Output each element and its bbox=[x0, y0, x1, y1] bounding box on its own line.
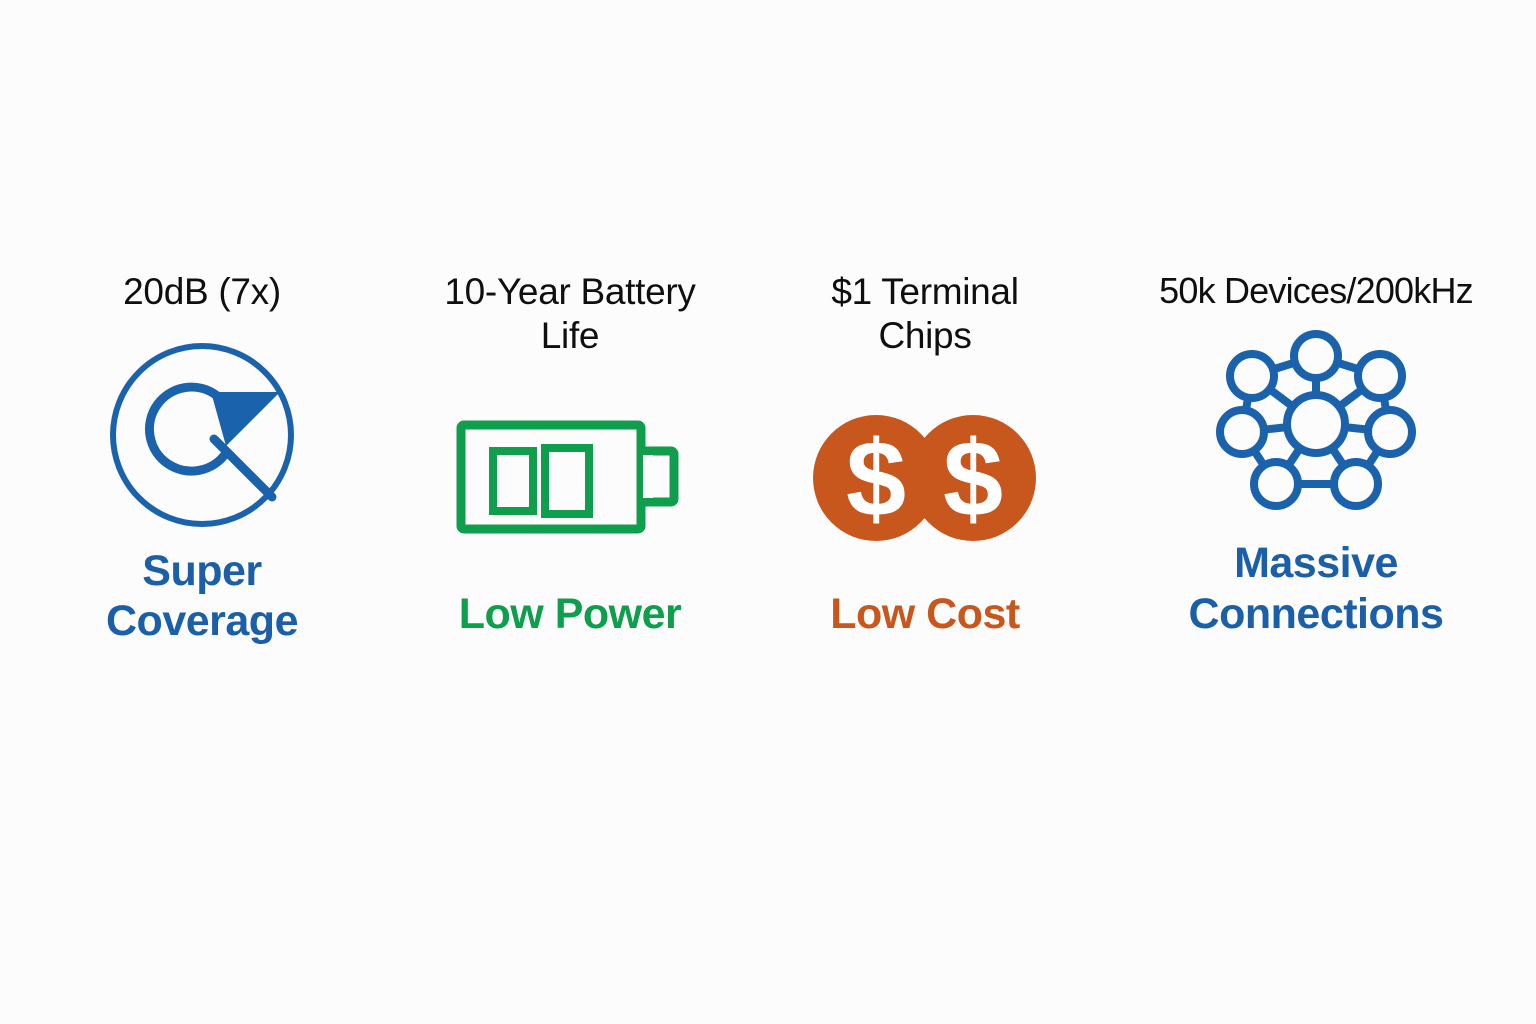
network-nodes-icon bbox=[1216, 316, 1416, 526]
feature-caption-super-coverage: Super Coverage bbox=[106, 546, 298, 647]
infographic-root: 20dB (7x) Super Coverage 10-Year Battery… bbox=[0, 0, 1536, 1024]
feature-card-low-cost: $1 Terminal Chips $ $ Low Cost bbox=[750, 270, 1100, 640]
feature-card-massive-connections: 50k Devices/200kHz bbox=[1100, 270, 1536, 639]
svg-text:$: $ bbox=[846, 418, 906, 539]
feature-row: 20dB (7x) Super Coverage 10-Year Battery… bbox=[0, 270, 1536, 646]
feature-card-super-coverage: 20dB (7x) Super Coverage bbox=[0, 270, 390, 646]
feature-caption-low-power: Low Power bbox=[459, 589, 681, 639]
coverage-signal-icon bbox=[104, 330, 300, 540]
metric-label-super-coverage: 20dB (7x) bbox=[123, 270, 281, 314]
battery-icon bbox=[455, 373, 685, 583]
metric-label-low-power: 10-Year Battery Life bbox=[444, 270, 695, 357]
feature-card-low-power: 10-Year Battery Life Low Power bbox=[390, 270, 750, 640]
feature-caption-massive-connections: Massive Connections bbox=[1189, 538, 1444, 639]
metric-label-low-cost: $1 Terminal Chips bbox=[831, 270, 1018, 357]
metric-label-massive-connections: 50k Devices/200kHz bbox=[1159, 270, 1473, 312]
svg-text:$: $ bbox=[943, 418, 1003, 539]
dollar-coins-icon: $ $ bbox=[813, 373, 1037, 583]
feature-caption-low-cost: Low Cost bbox=[830, 589, 1019, 639]
